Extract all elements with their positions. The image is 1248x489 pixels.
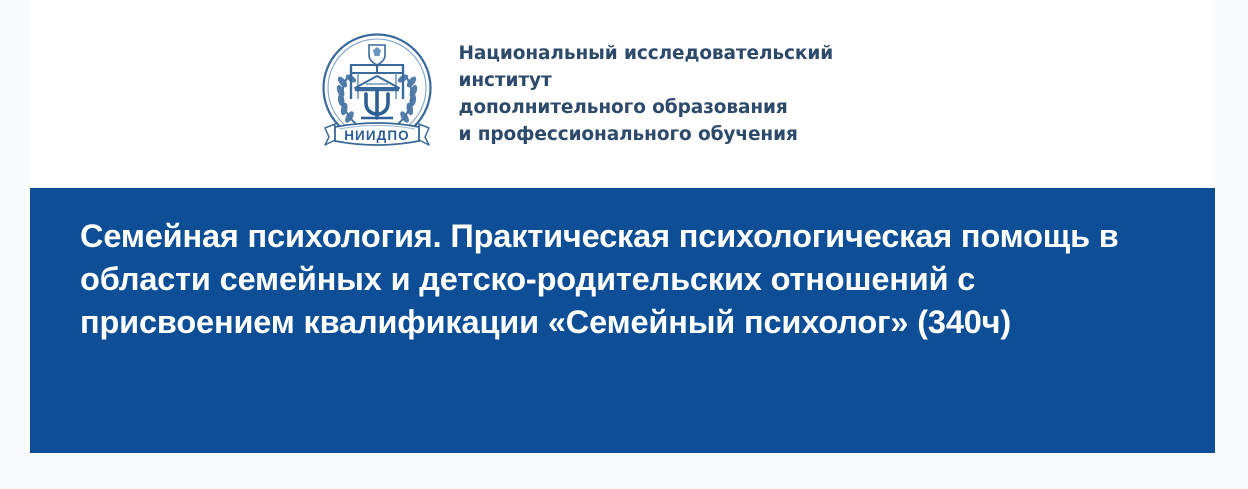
psi-symbol-icon <box>366 91 388 118</box>
pediment-icon <box>355 76 399 90</box>
site-header: НИИДПО Национальный исследовательский ин… <box>0 0 1185 188</box>
ribbon-text: НИИДПО <box>344 128 410 143</box>
header-inner: НИИДПО Национальный исследовательский ин… <box>311 28 879 160</box>
ribbon-banner: НИИДПО <box>325 123 429 145</box>
below-banner-strip <box>30 453 1215 489</box>
institute-name: Национальный исследовательский институт … <box>459 40 879 149</box>
page-root: НИИДПО Национальный исследовательский ин… <box>0 0 1248 489</box>
crest-shield-icon <box>369 45 385 65</box>
course-title-banner: Семейная психология. Практическая психол… <box>30 188 1215 453</box>
course-title: Семейная психология. Практическая психол… <box>30 188 1215 345</box>
niidpo-emblem-logo[interactable]: НИИДПО <box>311 28 443 160</box>
